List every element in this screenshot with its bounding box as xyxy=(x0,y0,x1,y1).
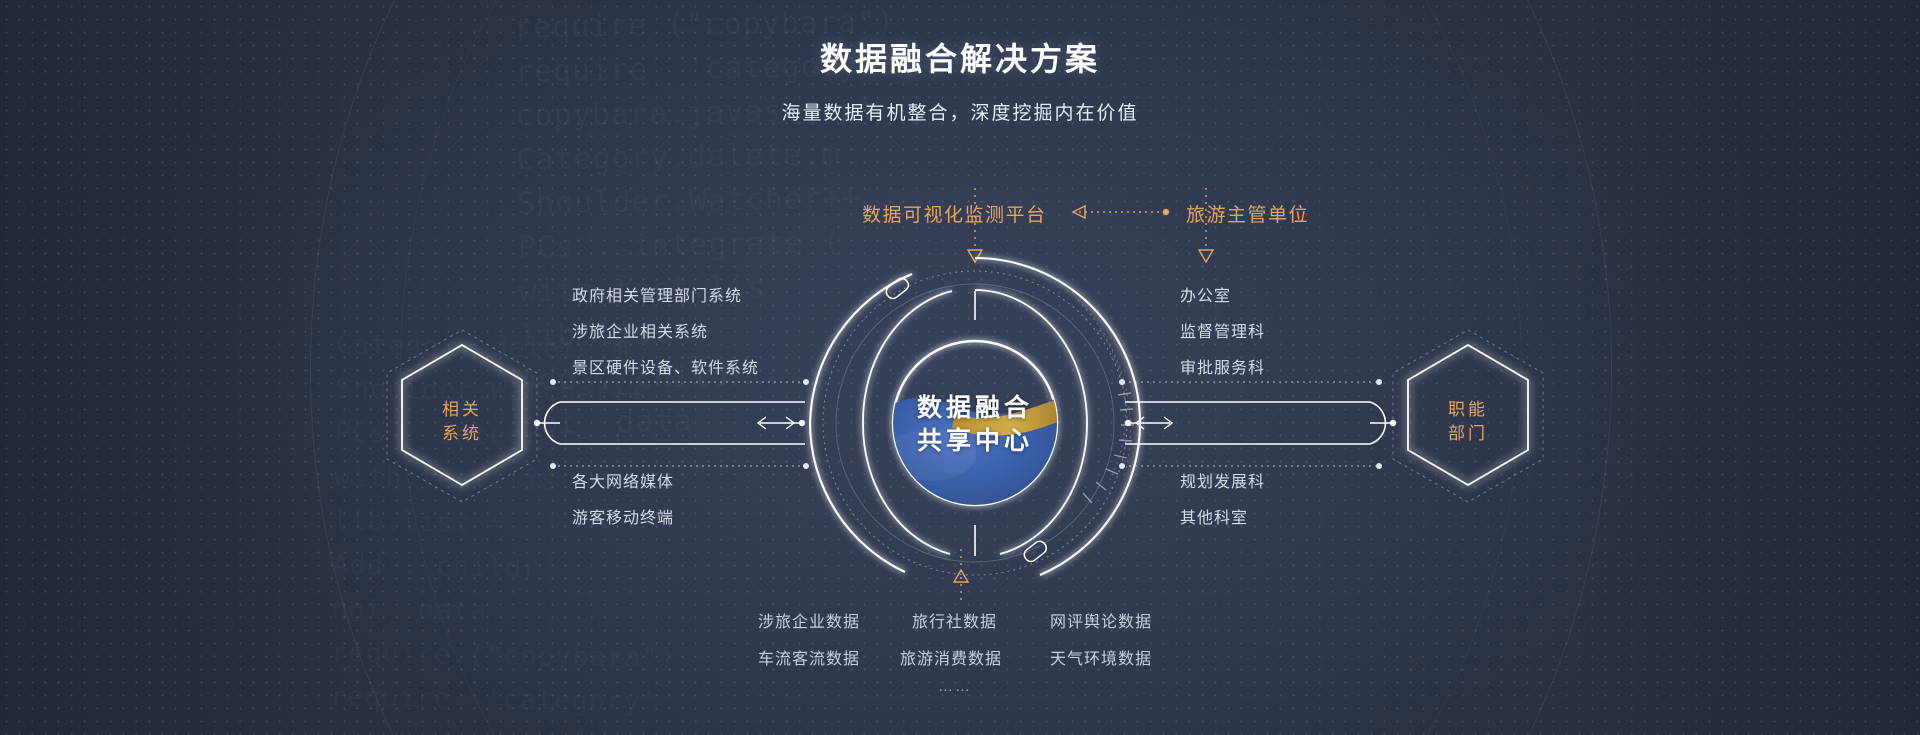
hex-left-line1: 相关 xyxy=(402,398,522,422)
bottom-item-0-0: 涉旅企业数据 xyxy=(758,608,860,632)
header: 数据融合解决方案 海量数据有机整合，深度挖掘内在价值 xyxy=(0,34,1920,125)
bottom-item-0-2: 网评舆论数据 xyxy=(1050,608,1152,632)
right-rails xyxy=(1119,379,1396,469)
drop-arrow-platform-icon xyxy=(968,250,982,262)
left-rails xyxy=(534,379,809,469)
left-rail-bottom-dot xyxy=(550,463,556,469)
right-rail-bottom-dot-end xyxy=(1376,463,1382,469)
right-rail-arrow-markers xyxy=(1125,417,1172,429)
left-item-0: 政府相关管理部门系统 xyxy=(572,282,742,306)
center-label-line1: 数据融合 xyxy=(845,392,1105,425)
bottom-item-1-0: 车流客流数据 xyxy=(758,645,860,669)
right-rail-bottom-dot xyxy=(1119,463,1125,469)
left-item-1: 涉旅企业相关系统 xyxy=(572,318,708,342)
left-item-4: 游客移动终端 xyxy=(572,504,674,528)
left-item-2: 景区硬件设备、软件系统 xyxy=(572,354,759,378)
top-connector-dot xyxy=(1163,209,1169,215)
vertical-riser-bottom xyxy=(954,545,968,600)
hex-right-line1: 职能 xyxy=(1408,398,1528,422)
left-rail-bottom-dot-end xyxy=(803,463,809,469)
label-tourism-authority[interactable]: 旅游主管单位 xyxy=(1186,200,1309,227)
right-item-4: 其他科室 xyxy=(1180,504,1248,528)
hex-left-label: 相关 系统 xyxy=(402,398,522,446)
left-rail-top-dot xyxy=(550,379,556,385)
right-rail-top-dot-end xyxy=(1376,379,1382,385)
page-subtitle: 海量数据有机整合，深度挖掘内在价值 xyxy=(0,98,1920,125)
center-label: 数据融合 共享中心 xyxy=(845,392,1105,458)
ring-marker-top xyxy=(884,276,911,301)
right-item-1: 监督管理科 xyxy=(1180,318,1265,342)
center-label-line2: 共享中心 xyxy=(845,425,1105,458)
drop-arrow-authority-icon xyxy=(1199,250,1213,262)
left-rail-arrow-markers xyxy=(758,417,805,429)
page-title: 数据融合解决方案 xyxy=(0,34,1920,80)
right-item-2: 审批服务科 xyxy=(1180,354,1265,378)
right-item-3: 规划发展科 xyxy=(1180,468,1265,492)
left-item-3: 各大网络媒体 xyxy=(572,468,674,492)
hex-right-line2: 部门 xyxy=(1408,422,1528,446)
label-data-visualization-platform[interactable]: 数据可视化监测平台 xyxy=(862,200,1047,227)
bottom-ellipsis: …… xyxy=(938,678,972,695)
top-connector-group xyxy=(1073,206,1169,218)
hex-right-label: 职能 部门 xyxy=(1408,398,1528,446)
bottom-item-1-2: 天气环境数据 xyxy=(1050,645,1152,669)
hex-left-line2: 系统 xyxy=(402,422,522,446)
left-rail-top-dot-end xyxy=(803,379,809,385)
right-item-0: 办公室 xyxy=(1180,282,1231,306)
bottom-item-1-1: 旅游消费数据 xyxy=(900,645,1002,669)
diagram-stage: require ("copybara") require 'category' … xyxy=(0,0,1920,735)
bottom-item-0-1: 旅行社数据 xyxy=(912,608,997,632)
